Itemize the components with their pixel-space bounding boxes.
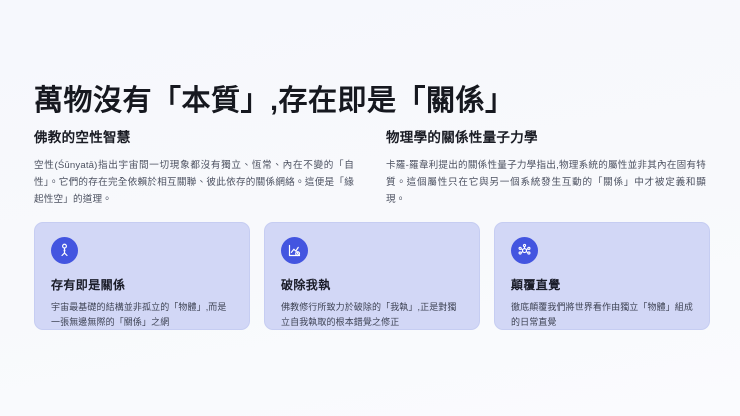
two-column-section: 佛教的空性智慧 空性(Śūnyatā)指出宇宙間一切現象都沒有獨立、恆常、內在不…	[34, 128, 706, 208]
card-body-text: 佛教修行所致力於破除的「我執」,正是對獨立自我執取的根本錯覺之修正	[281, 300, 463, 330]
chart-axis-icon	[281, 237, 308, 264]
column-body-text: 空性(Śūnyatā)指出宇宙間一切現象都沒有獨立、恆常、內在不變的「自性」。它…	[34, 157, 354, 208]
column-physics: 物理學的關係性量子力學 卡羅-羅韋利提出的關係性量子力學指出,物理系統的屬性並非…	[386, 128, 706, 208]
card-item[interactable]: 顛覆直覺 徹底顛覆我們將世界看作由獨立「物體」組成的日常直覺	[494, 222, 710, 330]
card-body-text: 宇宙最基礎的結構並非孤立的「物體」,而是一張無邊無際的「關係」之網	[51, 300, 233, 330]
column-heading: 物理學的關係性量子力學	[386, 128, 706, 148]
column-heading: 佛教的空性智慧	[34, 128, 354, 148]
card-list: 存有即是關係 宇宙最基礎的結構並非孤立的「物體」,而是一張無邊無際的「關係」之網…	[34, 222, 710, 330]
card-title: 顛覆直覺	[511, 277, 693, 294]
card-item[interactable]: 存有即是關係 宇宙最基礎的結構並非孤立的「物體」,而是一張無邊無際的「關係」之網	[34, 222, 250, 330]
card-title: 存有即是關係	[51, 277, 233, 294]
card-item[interactable]: 破除我執 佛教修行所致力於破除的「我執」,正是對獨立自我執取的根本錯覺之修正	[264, 222, 480, 330]
atom-molecule-icon	[511, 237, 538, 264]
page-title: 萬物沒有「本質」,存在即是「關係」	[34, 81, 515, 121]
page-root: 萬物沒有「本質」,存在即是「關係」 佛教的空性智慧 空性(Śūnyatā)指出宇…	[0, 0, 740, 416]
card-title: 破除我執	[281, 277, 463, 294]
network-node-icon	[51, 237, 78, 264]
card-body-text: 徹底顛覆我們將世界看作由獨立「物體」組成的日常直覺	[511, 300, 693, 330]
column-body-text: 卡羅-羅韋利提出的關係性量子力學指出,物理系統的屬性並非其內在固有特質。這個屬性…	[386, 157, 706, 208]
column-buddhism: 佛教的空性智慧 空性(Śūnyatā)指出宇宙間一切現象都沒有獨立、恆常、內在不…	[34, 128, 354, 208]
